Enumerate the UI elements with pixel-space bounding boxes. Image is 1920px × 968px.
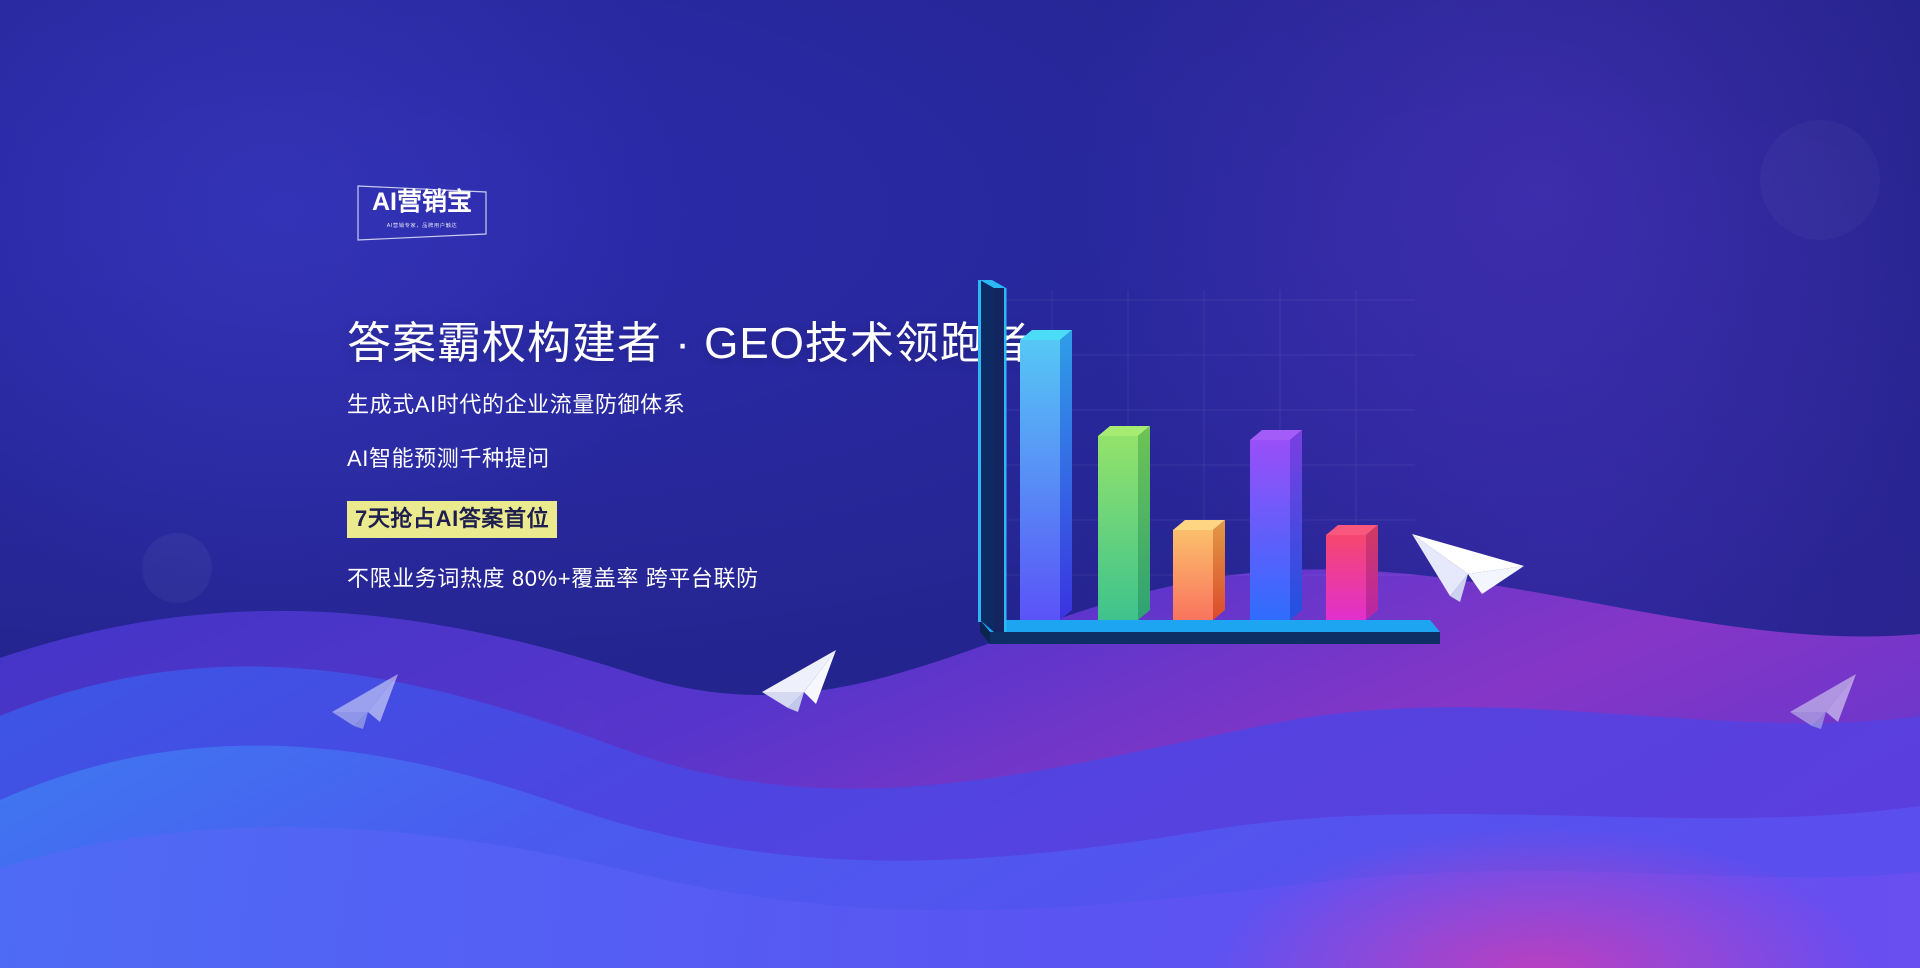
logo-tagline: AI营销专家，品牌用户触达 <box>355 221 489 229</box>
decorative-circle <box>560 700 604 744</box>
brand-logo[interactable]: AI营销宝 AI营销专家，品牌用户触达 <box>352 182 492 244</box>
paper-plane-icon <box>760 648 844 714</box>
chart-bar-4 <box>1250 430 1302 620</box>
hero-banner: AI营销宝 AI营销专家，品牌用户触达 答案霸权构建者 · GEO技术领跑者 生… <box>0 0 1920 968</box>
chart-y-axis <box>978 280 1007 632</box>
chart-bar-5 <box>1326 525 1378 620</box>
chart-bar-2 <box>1098 426 1150 620</box>
bar-chart-illustration <box>960 280 1460 680</box>
chart-bar-3 <box>1173 520 1225 620</box>
logo-wordmark: AI营销宝 <box>352 190 492 215</box>
paper-plane-icon <box>330 672 404 730</box>
decorative-circle <box>1760 120 1880 240</box>
chart-bar-1 <box>1020 330 1072 620</box>
decorative-circle <box>142 533 212 603</box>
paper-plane-icon <box>1788 672 1862 730</box>
chart-base <box>980 620 1440 644</box>
hero-highlight-badge: 7天抢占AI答案首位 <box>347 501 557 538</box>
